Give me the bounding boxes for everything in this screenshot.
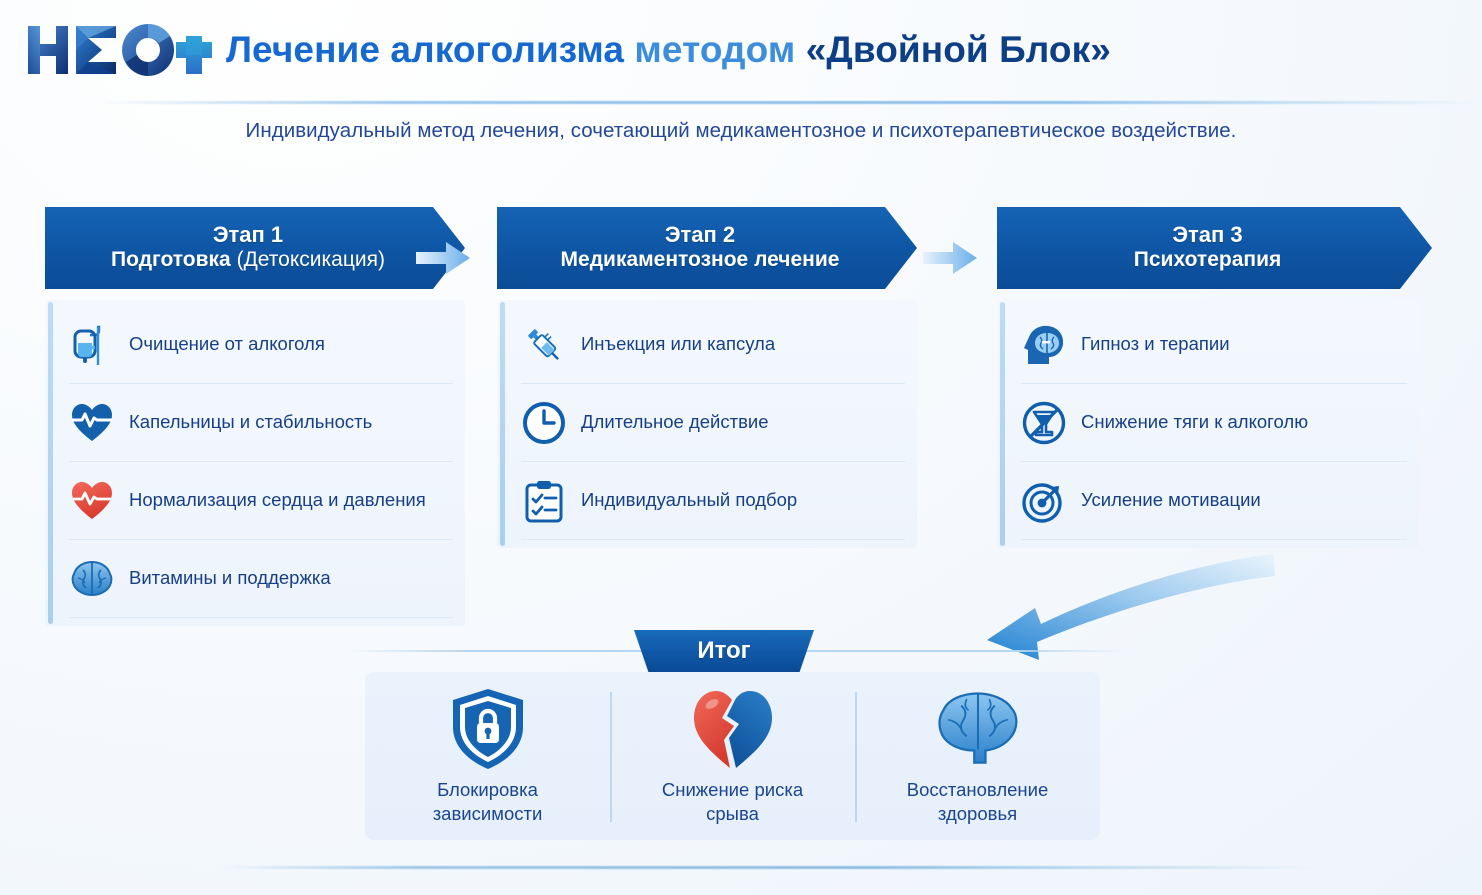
result-item-2-line2: срыва <box>706 803 759 824</box>
list-item[interactable]: Снижение тяги к алкоголю <box>1021 384 1407 462</box>
stage-column-1: Этап 1 Подготовка (Детоксикация) Очищени… <box>45 207 465 626</box>
stage-3-title: Психотерапия <box>1134 247 1281 273</box>
stage-2-title-bold: Медикаментозное лечение <box>561 248 840 271</box>
list-item-label: Снижение тяги к алкоголю <box>1081 411 1308 433</box>
list-item-label: Длительное действие <box>581 411 769 433</box>
list-item-label: Индивидуальный подбор <box>581 489 797 511</box>
result-item-2-label: Снижение риска срыва <box>662 778 803 825</box>
list-item-label: Инъекция или капсула <box>581 333 775 355</box>
clock-icon <box>521 399 567 447</box>
no-alcohol-glass-icon <box>1021 399 1067 447</box>
page-subtitle: Индивидуальный метод лечения, сочетающий… <box>0 119 1482 143</box>
page-title-part3: «Двойной Блок» <box>806 29 1111 70</box>
header-divider <box>95 101 1482 104</box>
brain-large-icon <box>935 686 1021 772</box>
head-brain-icon <box>1021 321 1067 369</box>
stage-2-title: Медикаментозное лечение <box>561 247 840 273</box>
checklist-clipboard-icon <box>521 477 567 525</box>
result-item-3-label: Восстановление здоровья <box>907 778 1049 825</box>
stage-1-title-bold: Подготовка <box>111 248 231 271</box>
stage-2-header[interactable]: Этап 2 Медикаментозное лечение <box>497 207 917 289</box>
list-item-label: Гипноз и терапии <box>1081 333 1230 355</box>
stage-1-header[interactable]: Этап 1 Подготовка (Детоксикация) <box>45 207 465 289</box>
syringe-icon <box>521 321 567 369</box>
stage-3-items: Гипноз и терапии Снижение тяги к алкогол… <box>997 300 1419 548</box>
list-item[interactable]: Гипноз и терапии <box>1021 306 1407 384</box>
stage-3-number: Этап 3 <box>1172 223 1242 247</box>
target-arrow-icon <box>1021 477 1067 525</box>
list-item[interactable]: Нормализация сердца и давления <box>69 462 453 540</box>
broken-heart-icon <box>690 686 776 772</box>
footer-divider <box>220 866 1315 869</box>
result-item-2-line1: Снижение риска <box>662 779 803 800</box>
list-item[interactable]: Очищение от алкоголя <box>69 306 453 384</box>
list-item[interactable]: Длительное действие <box>521 384 905 462</box>
list-item-label: Нормализация сердца и давления <box>129 489 426 511</box>
heart-pulse-red-icon <box>69 477 115 525</box>
result-item-1-line1: Блокировка <box>437 779 538 800</box>
stage-2-number: Этап 2 <box>665 223 735 247</box>
page-header: Лечение алкоголизма методом «Двойной Бло… <box>0 0 1482 100</box>
list-item-label: Витамины и поддержка <box>129 567 331 589</box>
result-panel: Блокировка зависимости Снижение <box>365 672 1100 840</box>
list-item-label: Очищение от алкоголя <box>129 333 325 355</box>
result-item-2[interactable]: Снижение риска срыва <box>610 672 855 840</box>
iv-drip-bag-icon <box>69 321 115 369</box>
page-title-part1: Лечение алкоголизма <box>226 29 624 70</box>
stage-connector-arrow-1 <box>416 236 472 280</box>
page-title-part2: методом <box>634 29 795 70</box>
stage-3-title-bold: Психотерапия <box>1134 248 1281 271</box>
stage-column-2: Этап 2 Медикаментозное лечение <box>497 207 917 548</box>
result-item-1[interactable]: Блокировка зависимости <box>365 672 610 840</box>
result-item-3-line1: Восстановление <box>907 779 1049 800</box>
stage-3-header[interactable]: Этап 3 Психотерапия <box>997 207 1432 289</box>
result-item-3[interactable]: Восстановление здоровья <box>855 672 1100 840</box>
list-item-label: Усиление мотивации <box>1081 489 1261 511</box>
result-item-1-line2: зависимости <box>433 803 543 824</box>
shield-lock-icon <box>445 686 531 772</box>
heart-pulse-blue-icon <box>69 399 115 447</box>
stage-1-title: Подготовка (Детоксикация) <box>111 247 385 273</box>
page-title: Лечение алкоголизма методом «Двойной Бло… <box>226 29 1111 71</box>
stage-connector-arrow-2 <box>923 236 979 280</box>
result-item-3-line2: здоровья <box>938 803 1017 824</box>
neo-plus-logo <box>26 22 212 78</box>
stage-1-items: Очищение от алкоголя Капельницы и стабил… <box>45 300 465 626</box>
stage-1-title-light: (Детоксикация) <box>237 248 385 271</box>
list-item[interactable]: Инъекция или капсула <box>521 306 905 384</box>
list-item[interactable]: Усиление мотивации <box>1021 462 1407 540</box>
list-item[interactable]: Капельницы и стабильность <box>69 384 453 462</box>
list-item[interactable]: Витамины и поддержка <box>69 540 453 618</box>
stage-column-3: Этап 3 Психотерапия Гипноз и терапии <box>997 207 1417 548</box>
list-item-label: Капельницы и стабильность <box>129 411 372 433</box>
stage-1-number: Этап 1 <box>213 223 283 247</box>
result-item-1-label: Блокировка зависимости <box>433 778 543 825</box>
list-item[interactable]: Индивидуальный подбор <box>521 462 905 540</box>
stage-2-items: Инъекция или капсула Длительное действие <box>497 300 917 548</box>
result-banner: Итог <box>634 630 814 672</box>
brain-icon <box>69 555 115 603</box>
